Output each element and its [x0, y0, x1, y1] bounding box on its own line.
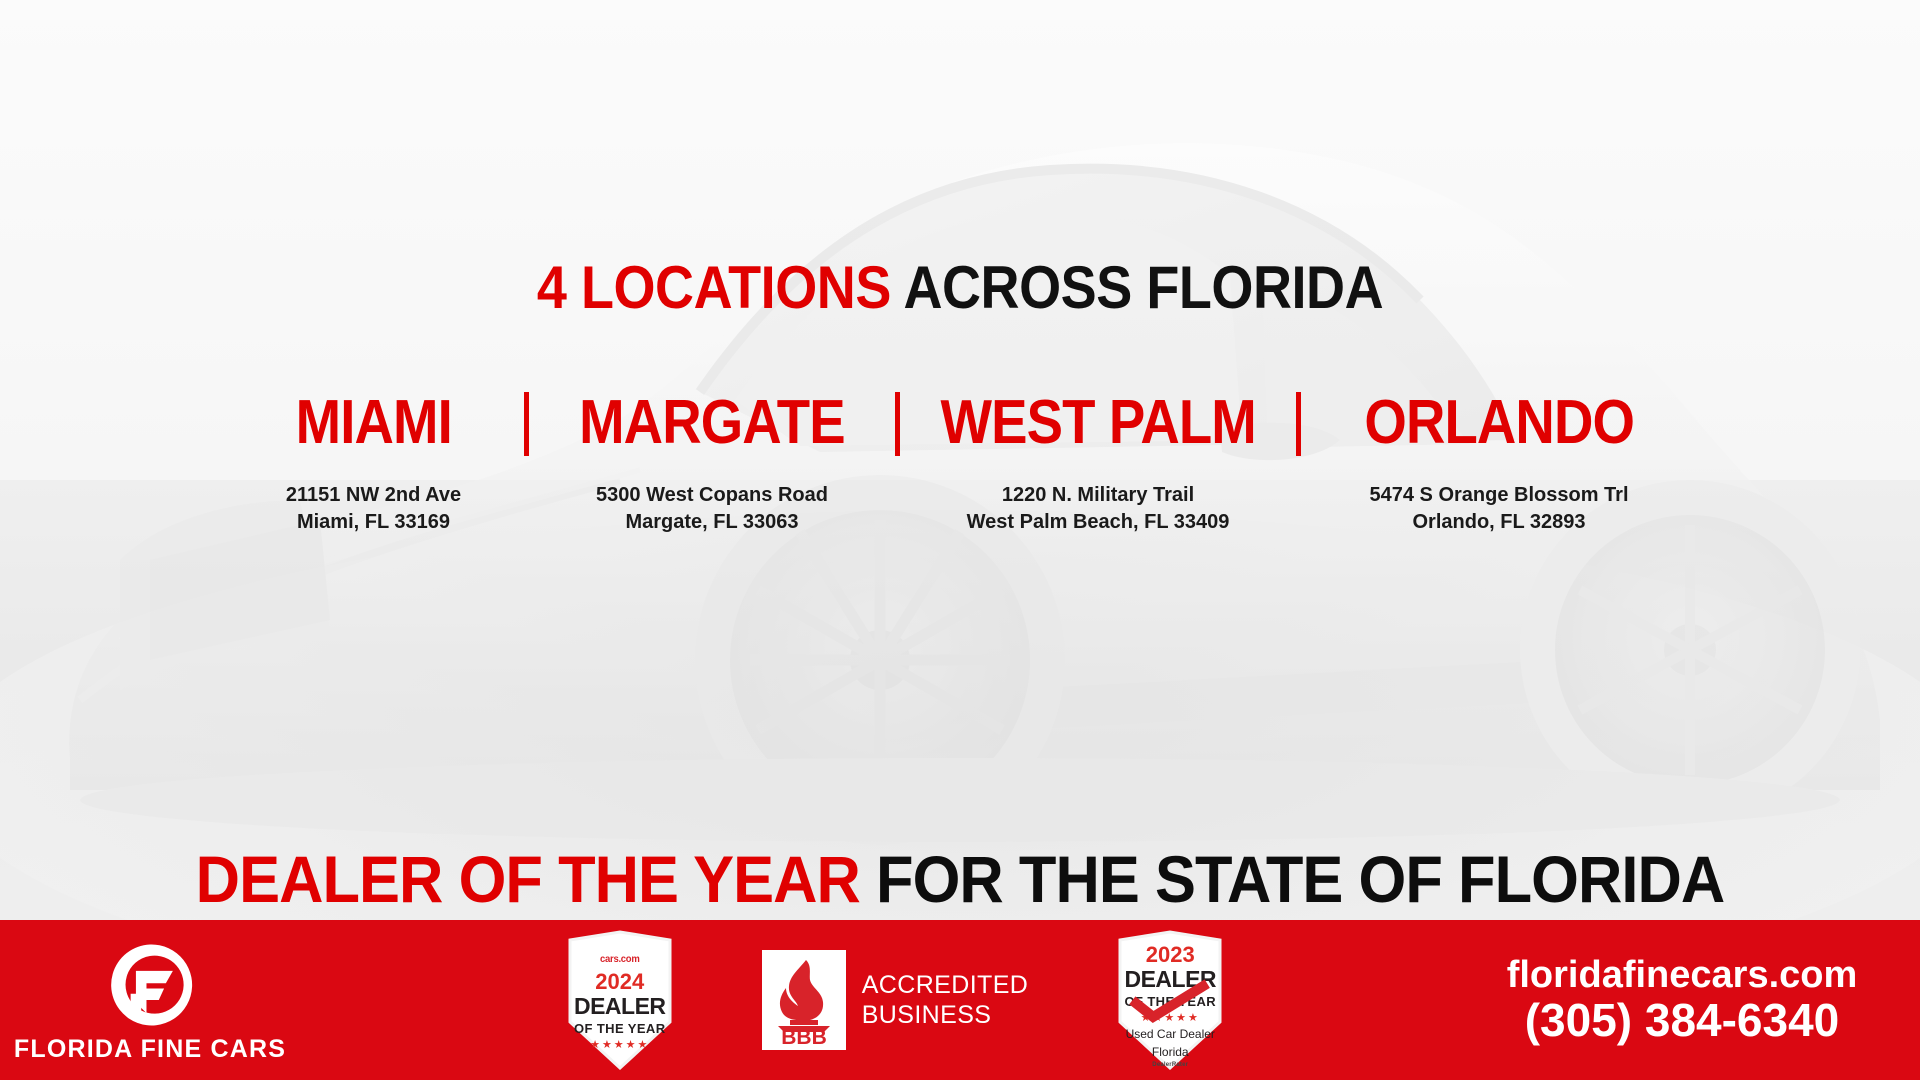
location-address: 5474 S Orange Blossom Trl Orlando, FL 32…: [1370, 482, 1629, 536]
dealerrater-dealer-of-the-year-badge[interactable]: 2023 DEALER OF THE YEAR ★★★★★ Used Car D…: [1114, 930, 1226, 1070]
bbb-text: ACCREDITED BUSINESS: [862, 970, 1029, 1031]
address-street: 5474 S Orange Blossom Trl: [1370, 482, 1629, 509]
location-west-palm[interactable]: WEST PALM 1220 N. Military Trail West Pa…: [918, 392, 1278, 536]
address-street: 5300 West Copans Road: [596, 482, 828, 509]
dealer-of-the-year-headline: DEALER OF THE YEAR FOR THE STATE OF FLOR…: [67, 846, 1853, 912]
locations-row: MIAMI 21151 NW 2nd Ave Miami, FL 33169 M…: [0, 392, 1920, 536]
florida-fine-cars-logo-icon: [106, 941, 194, 1029]
checkmark-icon: [1124, 932, 1216, 1069]
address-citystate: West Palm Beach, FL 33409: [967, 509, 1230, 536]
bbb-line-2: BUSINESS: [862, 1000, 1029, 1031]
address-citystate: Miami, FL 33169: [286, 509, 461, 536]
address-street: 1220 N. Military Trail: [967, 482, 1230, 509]
website-link[interactable]: floridafinecars.com: [1507, 956, 1858, 996]
bbb-line-1: ACCREDITED: [862, 970, 1029, 1001]
doty-highlight: DEALER OF THE YEAR: [196, 842, 860, 916]
bbb-logo-box: BBB: [762, 950, 846, 1050]
location-city-name: ORLANDO: [1364, 392, 1634, 454]
address-citystate: Orlando, FL 32893: [1370, 509, 1629, 536]
award-badges: cars.com 2024 DEALER OF THE YEAR ★★★★★ B…: [300, 930, 1450, 1070]
page-title: 4 LOCATIONS ACROSS FLORIDA: [96, 258, 1824, 318]
headline-rest: ACROSS FLORIDA: [903, 254, 1383, 321]
location-orlando[interactable]: ORLANDO 5474 S Orange Blossom Trl Orland…: [1319, 392, 1679, 536]
promo-banner: 4 LOCATIONS ACROSS FLORIDA MIAMI 21151 N…: [0, 0, 1920, 1080]
badge-year: 2024: [595, 971, 644, 993]
carscom-wordmark: cars.com: [600, 955, 639, 965]
location-divider-1: [524, 392, 529, 456]
location-divider-2: [895, 392, 900, 456]
location-margate[interactable]: MARGATE 5300 West Copans Road Margate, F…: [547, 392, 877, 536]
badge-subtitle: OF THE YEAR: [574, 1022, 666, 1035]
location-city-name: WEST PALM: [940, 392, 1255, 454]
badge-stars: ★★★★★: [590, 1040, 649, 1051]
footer-bar: FLORIDA FINE CARS cars.com 2024 DEALER O…: [0, 920, 1920, 1080]
location-city-name: MARGATE: [579, 392, 845, 454]
address-street: 21151 NW 2nd Ave: [286, 482, 461, 509]
brand-name: FLORIDA FINE CARS: [14, 1035, 286, 1064]
phone-link[interactable]: (305) 384-6340: [1525, 996, 1840, 1044]
headline-highlight: 4 LOCATIONS: [537, 254, 891, 321]
badge-title: DEALER: [574, 995, 666, 1018]
bbb-torch-icon: BBB: [768, 956, 840, 1044]
location-city-name: MIAMI: [295, 392, 451, 454]
address-citystate: Margate, FL 33063: [596, 509, 828, 536]
doty-rest: FOR THE STATE OF FLORIDA: [876, 842, 1724, 916]
brand-logo[interactable]: FLORIDA FINE CARS: [0, 937, 300, 1064]
contact-block: floridafinecars.com (305) 384-6340: [1450, 956, 1920, 1044]
bbb-accredited-business-badge[interactable]: BBB ACCREDITED BUSINESS: [762, 950, 1029, 1050]
location-address: 21151 NW 2nd Ave Miami, FL 33169: [286, 482, 461, 536]
location-miami[interactable]: MIAMI 21151 NW 2nd Ave Miami, FL 33169: [241, 392, 506, 536]
background-car-image: [0, 0, 1920, 1080]
location-divider-3: [1296, 392, 1301, 456]
carscom-dealer-of-the-year-badge[interactable]: cars.com 2024 DEALER OF THE YEAR ★★★★★: [564, 930, 676, 1070]
svg-text:BBB: BBB: [781, 1026, 827, 1044]
location-address: 5300 West Copans Road Margate, FL 33063: [596, 482, 828, 536]
location-address: 1220 N. Military Trail West Palm Beach, …: [967, 482, 1230, 536]
dealerrater-mark: DealerRater: [1152, 1062, 1188, 1068]
